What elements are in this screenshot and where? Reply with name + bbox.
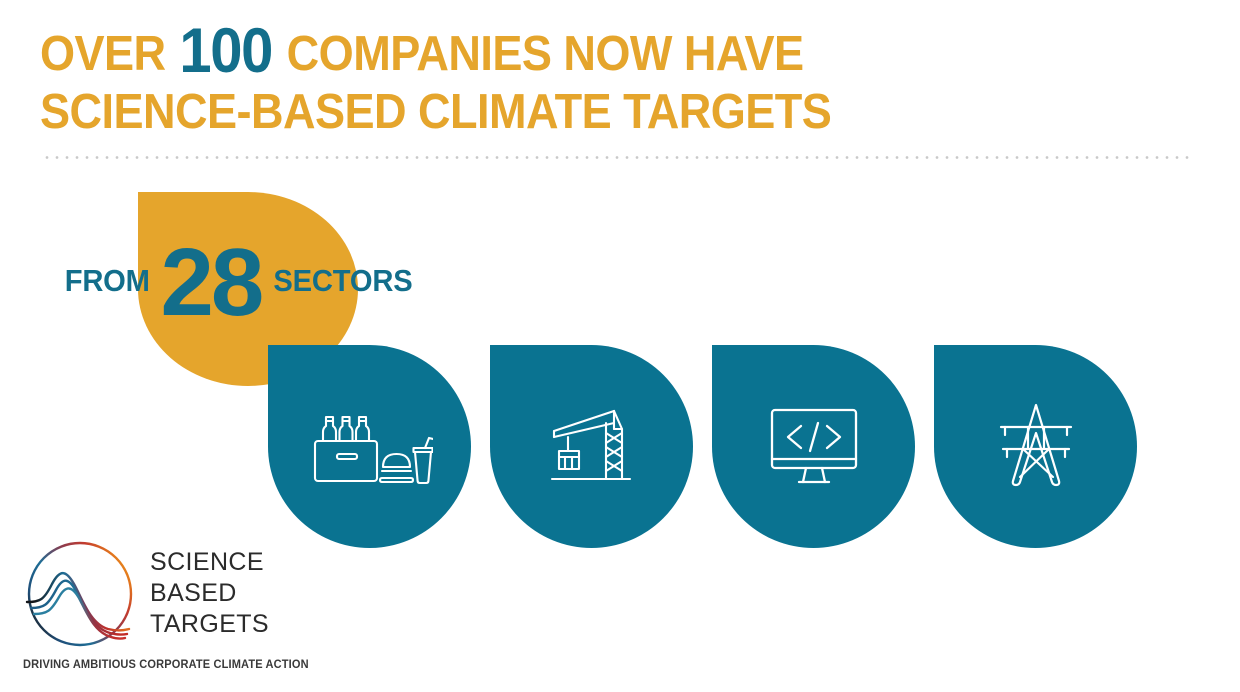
logo-word-targets: TARGETS [150, 609, 269, 640]
headline-text-over: OVER [40, 27, 178, 81]
software-code-monitor-icon [712, 345, 915, 548]
construction-crane-icon [490, 345, 693, 548]
food-and-beverage-icon [268, 345, 471, 548]
sectors-suffix-label: SECTORS [274, 263, 413, 299]
sector-tile-construction[interactable] [490, 345, 693, 548]
infographic-canvas: OVER 100 COMPANIES NOW HAVE SCIENCE-BASE… [0, 0, 1240, 692]
headline-line-1: OVER 100 COMPANIES NOW HAVE [40, 22, 1107, 83]
sector-tile-food-and-beverage[interactable] [268, 345, 471, 548]
headline-line-2: SCIENCE-BASED CLIMATE TARGETS [40, 83, 1107, 141]
sector-tile-software-and-services[interactable] [712, 345, 915, 548]
electricity-pylon-icon [934, 345, 1137, 548]
dotted-divider [42, 156, 1195, 159]
logo-word-science: SCIENCE [150, 547, 269, 578]
sbt-emissions-curve-mark-icon [22, 536, 138, 652]
sectors-prefix-label: FROM [65, 263, 150, 299]
logo-wordmark: SCIENCE BASED TARGETS [150, 547, 269, 640]
logo-tagline: DRIVING AMBITIOUS CORPORATE CLIMATE ACTI… [23, 659, 309, 671]
sector-tile-electric-utilities[interactable] [934, 345, 1137, 548]
sectors-count: 28 [152, 235, 269, 331]
logo-word-based: BASED [150, 578, 269, 609]
headline-text-companies: COMPANIES NOW HAVE [275, 27, 804, 81]
science-based-targets-logo: SCIENCE BASED TARGETS DRIVING AMBITIOUS … [22, 536, 284, 684]
headline-company-count: 100 [178, 16, 275, 86]
sectors-callout: FROM 28 SECTORS [62, 236, 417, 326]
page-title: OVER 100 COMPANIES NOW HAVE SCIENCE-BASE… [40, 22, 1107, 141]
